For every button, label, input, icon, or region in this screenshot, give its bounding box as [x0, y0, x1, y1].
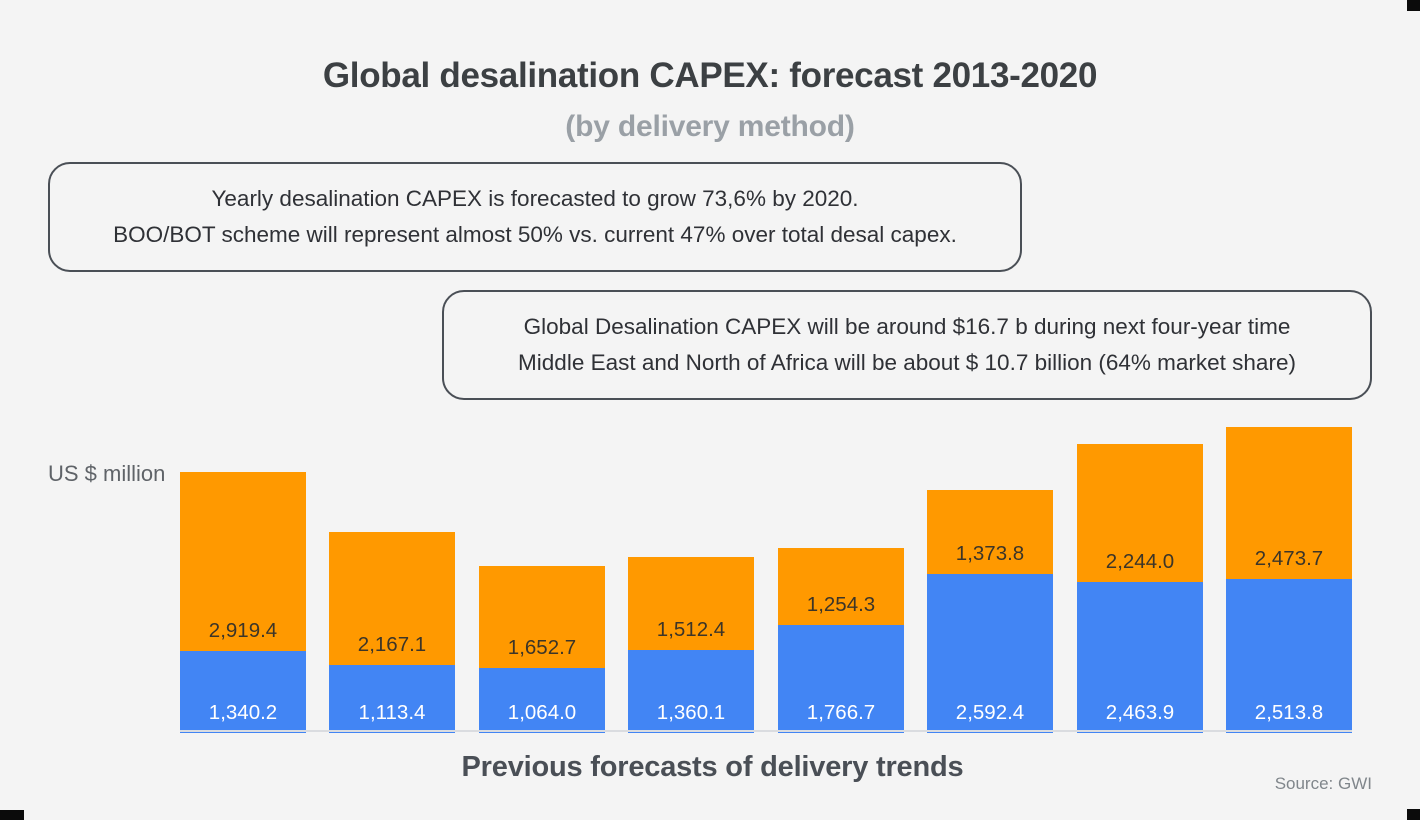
bar-segment-upper: 1,512.4 [628, 557, 754, 650]
corner-mark-bottom-right [1407, 809, 1420, 820]
bar-segment-lower: 2,513.8 [1226, 579, 1352, 733]
bar-segment-lower: 1,113.4 [329, 665, 455, 733]
bar-segment-upper: 2,167.1 [329, 532, 455, 665]
growth-callout-line-2: BOO/BOT scheme will represent almost 50%… [113, 217, 957, 253]
corner-mark-bottom-left [0, 810, 24, 820]
market-callout-box: Global Desalination CAPEX will be around… [442, 290, 1372, 400]
market-callout-line-1: Global Desalination CAPEX will be around… [524, 309, 1291, 345]
bar-segment-lower: 2,463.9 [1077, 582, 1203, 733]
bar-label-upper: 2,167.1 [329, 633, 455, 657]
growth-callout-box: Yearly desalination CAPEX is forecasted … [48, 162, 1022, 272]
bar-segment-upper: 1,652.7 [479, 566, 605, 667]
bar-group: 2,244.02,463.9 [1077, 444, 1203, 733]
chart-subtitle: (by delivery method) [0, 110, 1420, 144]
chart-canvas: Global desalination CAPEX: forecast 2013… [0, 0, 1420, 820]
bar-label-lower: 1,064.0 [479, 701, 605, 725]
y-axis-unit-label: US $ million [48, 461, 165, 487]
bar-label-upper: 1,512.4 [628, 618, 754, 642]
bar-label-lower: 1,113.4 [329, 701, 455, 725]
bar-segment-upper: 2,473.7 [1226, 427, 1352, 579]
bar-segment-lower: 1,766.7 [778, 625, 904, 733]
bar-label-upper: 1,254.3 [778, 593, 904, 617]
corner-mark-top-right [1407, 0, 1420, 11]
bar-group: 1,373.82,592.4 [927, 490, 1053, 733]
bar-label-upper: 1,373.8 [927, 542, 1053, 566]
bar-label-upper: 2,473.7 [1226, 547, 1352, 571]
bar-label-lower: 2,463.9 [1077, 701, 1203, 725]
bar-segment-lower: 1,340.2 [180, 651, 306, 733]
bar-label-upper: 1,652.7 [479, 636, 605, 660]
bar-label-upper: 2,919.4 [180, 619, 306, 643]
bar-label-upper: 2,244.0 [1077, 550, 1203, 574]
bar-segment-upper: 1,254.3 [778, 548, 904, 625]
bar-segment-upper: 2,919.4 [180, 472, 306, 651]
chart-title: Global desalination CAPEX: forecast 2013… [0, 56, 1420, 96]
plot-area: 2,919.41,340.22,167.11,113.41,652.71,064… [180, 415, 1352, 733]
bar-group: 2,919.41,340.2 [180, 472, 306, 733]
growth-callout-line-1: Yearly desalination CAPEX is forecasted … [211, 181, 858, 217]
bar-segment-upper: 2,244.0 [1077, 444, 1203, 582]
bar-group: 1,652.71,064.0 [479, 566, 605, 733]
market-callout-line-2: Middle East and North of Africa will be … [518, 345, 1296, 381]
bar-group: 1,254.31,766.7 [778, 548, 904, 733]
bar-segment-lower: 1,360.1 [628, 650, 754, 733]
bar-segment-lower: 1,064.0 [479, 668, 605, 733]
bar-label-lower: 2,592.4 [927, 701, 1053, 725]
bar-segment-upper: 1,373.8 [927, 490, 1053, 574]
bar-label-lower: 1,360.1 [628, 701, 754, 725]
bar-group: 2,473.72,513.8 [1226, 427, 1352, 733]
bar-segment-lower: 2,592.4 [927, 574, 1053, 733]
source-label: Source: GWI [1275, 774, 1372, 794]
x-axis-baseline [180, 730, 1352, 732]
bar-group: 1,512.41,360.1 [628, 557, 754, 733]
bar-label-lower: 2,513.8 [1226, 701, 1352, 725]
x-axis-caption: Previous forecasts of delivery trends [180, 751, 1245, 784]
bar-label-lower: 1,340.2 [180, 701, 306, 725]
bar-group: 2,167.11,113.4 [329, 532, 455, 733]
bar-label-lower: 1,766.7 [778, 701, 904, 725]
